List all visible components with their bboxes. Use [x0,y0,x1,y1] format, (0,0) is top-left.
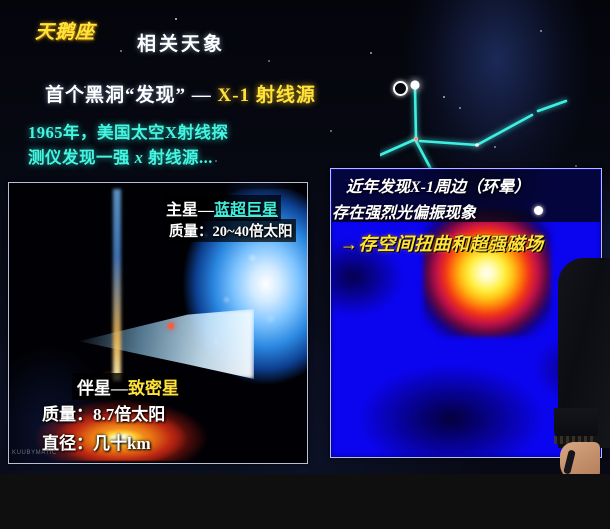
star-speck [370,52,372,54]
discovery-note-line2-a: 测仪发现一强 [28,148,135,167]
headline-highlight: X-1 射线源 [218,85,316,106]
headline-prefix: 首个黑洞“发现” — [45,85,218,106]
primary-star-label: 主星—蓝超巨星 [163,195,281,221]
hotspot-marker [168,323,174,329]
relativistic-jet [113,189,121,381]
presentation-slide: 天鹅座 相关天象 首个黑洞“发现” — X-1 射线源 1965年，美国太空X射… [0,0,610,474]
star-speck [175,18,177,20]
companion-star-label: 伴星—致密星 [72,373,184,400]
primary-star-mass: 质量：20~40倍太阳 [166,219,296,242]
page-title-cygnus: 天鹅座 [35,17,95,44]
primary-star-label-prefix: 主星— [166,202,214,219]
headline: 首个黑洞“发现” — X-1 射线源 [45,80,316,107]
star-speck [330,130,332,132]
xray-caption-line1: 近年发现X-1周边（环晕） [346,173,530,197]
video-frame: 天鹅座 相关天象 首个黑洞“发现” — X-1 射线源 1965年，美国太空X射… [0,0,610,529]
xray-caption-line2: 存在强烈光偏振现象 [332,199,476,223]
companion-star-label-em: 致密星 [128,379,179,398]
xray-conclusion: →存空间扭曲和超强磁场 [340,230,544,256]
discovery-note-line1: 1965年，美国太空X射线探 [28,120,308,145]
discovery-note: 1965年，美国太空X射线探 测仪发现一强 x 射线源... [28,120,308,170]
bullet-dot-icon [534,206,543,215]
star-speck [540,30,542,32]
discovery-note-line2-b: 射线源... [143,148,213,167]
presenter-figure [548,258,610,474]
discovery-note-line2: 测仪发现一强 x 射线源... [28,145,308,170]
watermark: KUUBYMATIC [12,450,57,456]
companion-star-diameter: 直径：几十km [42,429,151,454]
companion-star-label-prefix: 伴星— [77,379,128,398]
companion-star-mass: 质量：8.7倍太阳 [42,400,165,425]
page-subtitle-topic: 相关天象 [137,29,225,56]
xray-source-hotspot [423,209,551,337]
x1-position-circle-icon [393,81,408,96]
star-speck [120,50,122,52]
primary-star-label-em: 蓝超巨星 [214,202,278,219]
star-speck [268,60,270,62]
video-letterbox-bar [0,474,610,529]
